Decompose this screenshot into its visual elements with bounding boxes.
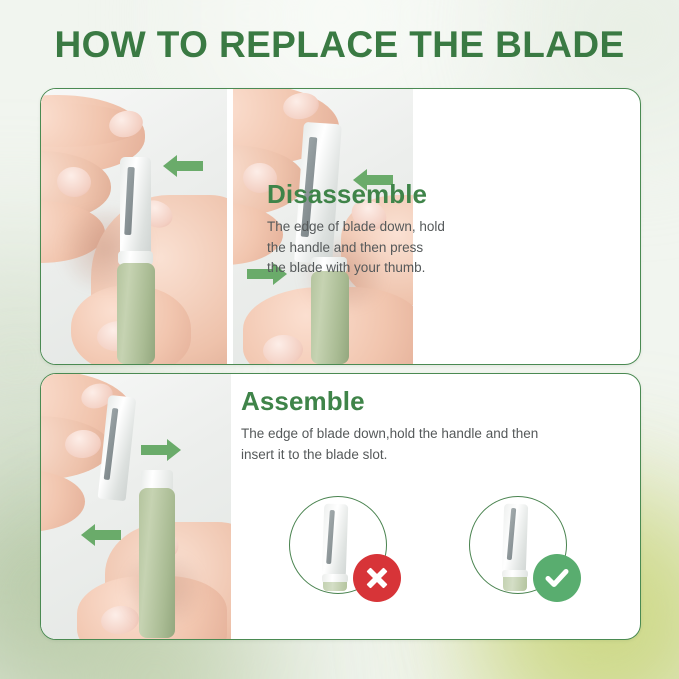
comparison-correct [469,496,619,626]
peeler-handle [117,263,155,364]
cross-icon [353,554,401,602]
disassemble-photo-1 [41,89,227,364]
disassemble-card: Disassemble The edge of blade down, hold… [40,88,641,365]
peeler-handle [311,271,349,364]
disassemble-body-line-1: The edge of blade down, hold [267,217,477,238]
check-icon [533,554,581,602]
blade-cover [120,157,151,255]
mini-blade-cover [322,504,348,577]
infographic-root: HOW TO REPLACE THE BLADE [0,0,679,679]
arrow-left-icon [79,522,123,548]
disassemble-heading: Disassemble [267,179,477,210]
assemble-card: Assemble The edge of blade down,hold the… [40,373,641,640]
assemble-heading: Assemble [241,386,631,417]
assemble-text: Assemble The edge of blade down,hold the… [241,386,631,465]
arrow-right-icon [139,437,183,463]
page-title: HOW TO REPLACE THE BLADE [0,24,679,66]
comparison-incorrect [289,496,439,626]
assemble-photo-1 [41,374,231,639]
disassemble-text: Disassemble The edge of blade down, hold… [267,179,477,279]
peeler-handle [139,488,175,638]
mini-peeler-handle [503,577,527,591]
assemble-body-line-1: The edge of blade down,hold the handle a… [241,424,631,445]
assemble-body-line-2: insert it to the blade slot. [241,445,631,466]
arrow-left-icon [161,153,205,179]
disassemble-body-line-2: the handle and then press [267,238,477,259]
disassemble-body-line-3: the blade with your thumb. [267,258,477,279]
mini-peeler-handle [323,582,347,591]
